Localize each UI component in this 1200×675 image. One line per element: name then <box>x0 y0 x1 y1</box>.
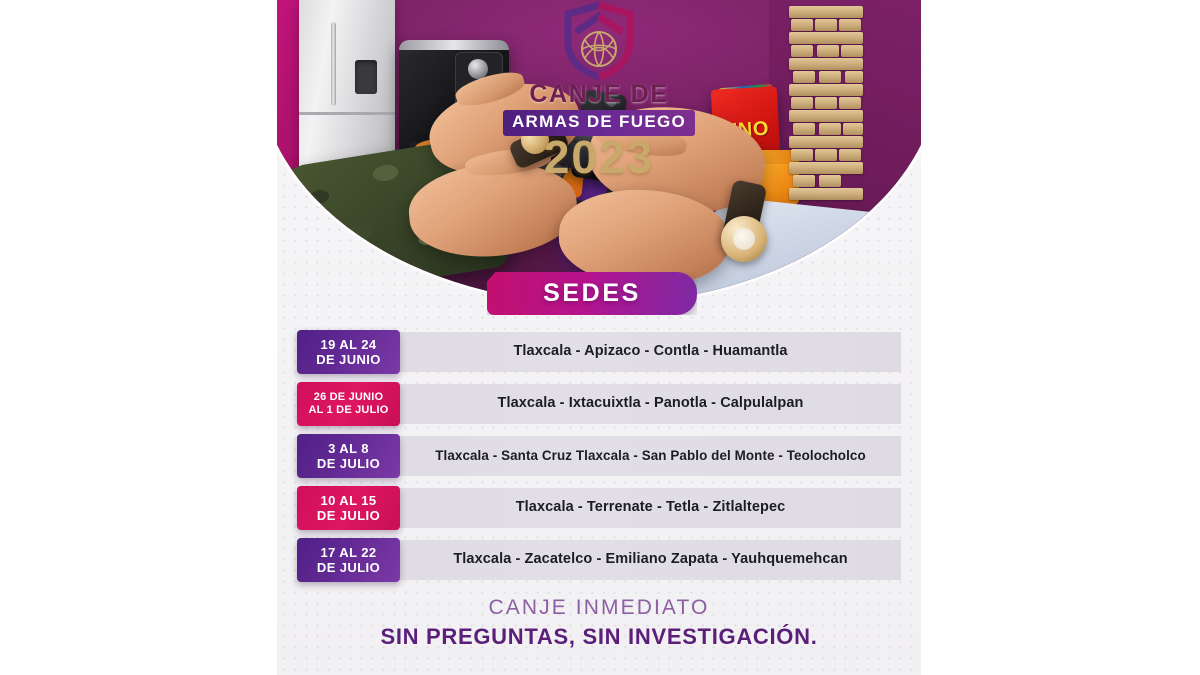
date-badge-line2: DE JULIO <box>317 560 380 575</box>
screenshot-canvas: UNO <box>0 0 1200 675</box>
table-row: 10 AL 15 DE JULIO Tlaxcala - Terrenate -… <box>297 486 901 530</box>
table-row: 26 DE JUNIO AL 1 DE JULIO Tlaxcala - Ixt… <box>297 382 901 426</box>
photo-circular-mask: UNO <box>277 0 921 300</box>
poster-footer: CANJE INMEDIATO SIN PREGUNTAS, SIN INVES… <box>277 596 921 649</box>
date-badge-line1: 10 AL 15 <box>321 493 377 508</box>
wristwatch-face-right <box>721 216 767 262</box>
date-badge: 3 AL 8 DE JULIO <box>297 434 400 478</box>
poster: UNO <box>277 0 921 675</box>
table-row-locations-cell: Tlaxcala - Santa Cruz Tlaxcala - San Pab… <box>400 434 901 478</box>
locations-text: Tlaxcala - Santa Cruz Tlaxcala - San Pab… <box>435 449 865 464</box>
sedes-banner-label: SEDES <box>543 281 641 306</box>
table-row-locations-cell: Tlaxcala - Terrenate - Tetla - Zitlaltep… <box>400 486 901 530</box>
date-badge-line2: DE JUNIO <box>316 352 381 367</box>
table-row-locations-cell: Tlaxcala - Apizaco - Contla - Huamantla <box>400 330 901 374</box>
sedes-banner: SEDES <box>487 272 697 315</box>
date-badge-line2: AL 1 DE JULIO <box>308 404 388 417</box>
table-row-locations-cell: Tlaxcala - Zacatelco - Emiliano Zapata -… <box>400 538 901 582</box>
date-badge: 26 DE JUNIO AL 1 DE JULIO <box>297 382 400 426</box>
photo-scene: UNO <box>277 0 921 300</box>
locations-text: Tlaxcala - Ixtacuixtla - Panotla - Calpu… <box>498 396 804 412</box>
locations-text: Tlaxcala - Terrenate - Tetla - Zitlaltep… <box>516 500 786 516</box>
right-white-gutter <box>921 0 1200 675</box>
footer-line-canje-inmediato: CANJE INMEDIATO <box>277 596 921 620</box>
refrigerator-handle <box>331 22 336 106</box>
date-badge-line2: DE JULIO <box>317 456 380 471</box>
footer-line-sin-preguntas: SIN PREGUNTAS, SIN INVESTIGACIÓN. <box>277 624 921 649</box>
refrigerator-seam <box>299 112 395 115</box>
date-badge-line2: DE JULIO <box>317 508 380 523</box>
table-row-locations-cell: Tlaxcala - Ixtacuixtla - Panotla - Calpu… <box>400 382 901 426</box>
locations-text: Tlaxcala - Apizaco - Contla - Huamantla <box>513 344 787 360</box>
sedes-schedule-table: 19 AL 24 DE JUNIO Tlaxcala - Apizaco - C… <box>297 330 901 590</box>
date-badge-line1: 26 DE JUNIO <box>314 391 383 404</box>
air-fryer-chrome-trim <box>399 40 509 50</box>
date-badge: 19 AL 24 DE JUNIO <box>297 330 400 374</box>
table-row: 3 AL 8 DE JULIO Tlaxcala - Santa Cruz Tl… <box>297 434 901 478</box>
hero-photo: UNO <box>277 0 921 300</box>
date-badge: 10 AL 15 DE JULIO <box>297 486 400 530</box>
refrigerator-icon <box>299 0 395 176</box>
date-badge-line1: 17 AL 22 <box>321 545 377 560</box>
jenga-tower-icon <box>789 6 863 206</box>
date-badge-line1: 19 AL 24 <box>321 337 377 352</box>
date-badge: 17 AL 22 DE JULIO <box>297 538 400 582</box>
table-row: 17 AL 22 DE JULIO Tlaxcala - Zacatelco -… <box>297 538 901 582</box>
table-row: 19 AL 24 DE JUNIO Tlaxcala - Apizaco - C… <box>297 330 901 374</box>
locations-text: Tlaxcala - Zacatelco - Emiliano Zapata -… <box>453 552 847 568</box>
left-white-gutter <box>0 0 277 675</box>
refrigerator-dispenser <box>355 60 377 94</box>
date-badge-line1: 3 AL 8 <box>328 441 369 456</box>
